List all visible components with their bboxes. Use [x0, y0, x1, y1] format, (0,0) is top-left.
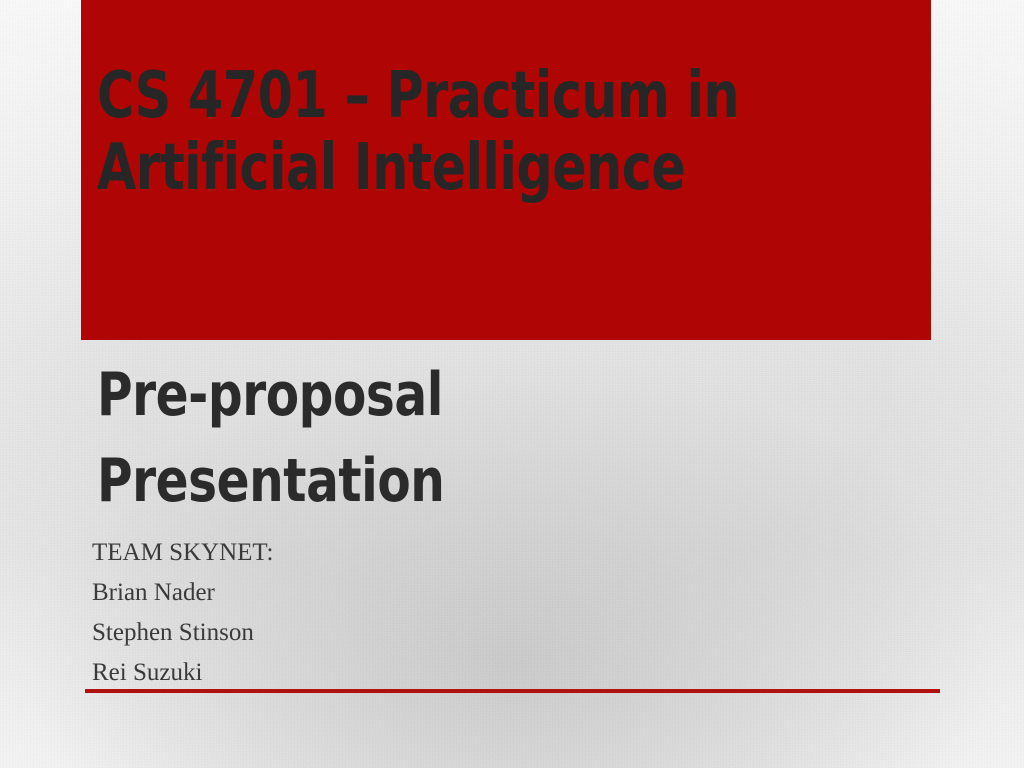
title-banner: CS 4701 – Practicum in Artificial Intell…: [81, 0, 931, 340]
team-member: Stephen Stinson: [92, 613, 652, 653]
team-roster: TEAM SKYNET: Brian Nader Stephen Stinson…: [92, 533, 652, 693]
presentation-slide: CS 4701 – Practicum in Artificial Intell…: [0, 0, 1024, 768]
accent-rule: [85, 689, 940, 693]
team-heading: TEAM SKYNET:: [92, 533, 652, 573]
team-member: Rei Suzuki: [92, 653, 652, 693]
team-member: Brian Nader: [92, 573, 652, 613]
slide-title: CS 4701 – Practicum in Artificial Intell…: [97, 60, 819, 204]
slide-subtitle: Pre-proposal Presentation: [97, 352, 727, 524]
